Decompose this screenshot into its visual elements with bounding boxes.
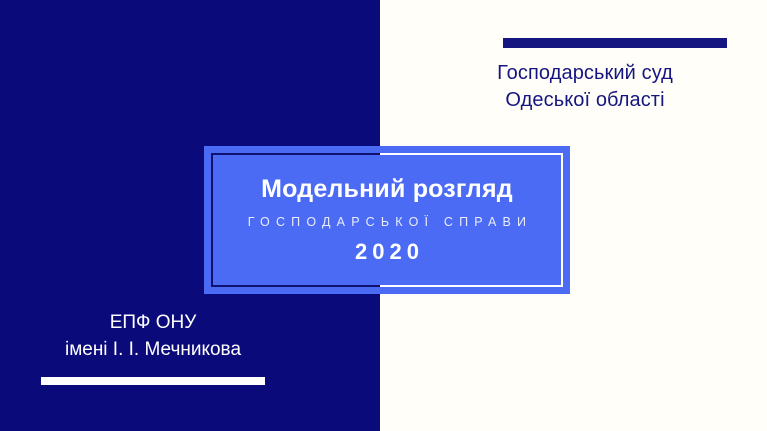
court-name: Господарський суд Одеської області bbox=[430, 60, 740, 114]
university-name: ЕПФ ОНУ імені І. І. Мечникова bbox=[16, 310, 290, 363]
title-card: Модельний розгляд ГОСПОДАРСЬКОЇ СПРАВИ 2… bbox=[204, 146, 570, 294]
university-divider-rule bbox=[41, 377, 265, 385]
court-name-line-2: Одеської області bbox=[430, 87, 740, 114]
court-name-line-1: Господарський суд bbox=[430, 60, 740, 87]
slide-year: 2020 bbox=[350, 239, 424, 265]
presentation-title-slide: Господарський суд Одеської області Модел… bbox=[0, 0, 767, 431]
court-divider-rule bbox=[503, 38, 727, 48]
university-name-line-2: імені І. І. Мечникова bbox=[16, 337, 290, 364]
title-card-content: Модельний розгляд ГОСПОДАРСЬКОЇ СПРАВИ 2… bbox=[204, 146, 570, 294]
slide-title: Модельний розгляд bbox=[261, 175, 513, 204]
slide-subtitle: ГОСПОДАРСЬКОЇ СПРАВИ bbox=[242, 215, 532, 229]
university-name-line-1: ЕПФ ОНУ bbox=[16, 310, 290, 337]
